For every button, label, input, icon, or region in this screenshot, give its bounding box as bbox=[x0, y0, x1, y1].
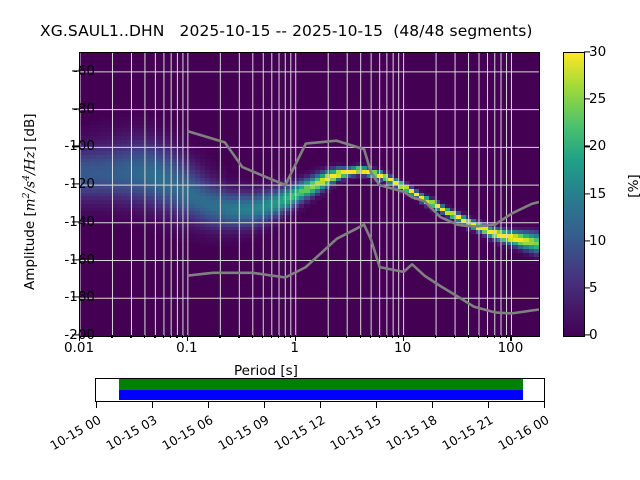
y-axis-tick-mark bbox=[72, 221, 79, 222]
x-axis-tick-mark bbox=[170, 335, 171, 338]
y-axis-tick-mark bbox=[72, 108, 79, 109]
timeline-tick-mark bbox=[320, 402, 321, 408]
timeline-tick-label: 10-15 21 bbox=[431, 412, 496, 458]
timeline-tick-label: 10-15 15 bbox=[319, 412, 384, 458]
y-axis-tick-label: -180 bbox=[64, 289, 95, 305]
timeline-tick-mark bbox=[264, 402, 265, 408]
timeline-tick-mark bbox=[152, 402, 153, 408]
x-axis-tick-mark bbox=[506, 335, 507, 338]
x-axis-tick-mark bbox=[187, 335, 188, 341]
colorbar-tick-mark bbox=[584, 287, 590, 288]
x-axis-tick-mark bbox=[262, 335, 263, 338]
timeline-tick-label: 10-15 12 bbox=[263, 412, 328, 458]
timeline-tick-mark bbox=[376, 402, 377, 408]
page-title: XG.SAUL1..DHN 2025-10-15 -- 2025-10-15 (… bbox=[40, 22, 533, 40]
x-axis-tick-mark bbox=[295, 335, 296, 341]
x-axis-tick-mark bbox=[290, 335, 291, 338]
colorbar-tick-label: 10 bbox=[589, 233, 606, 249]
timeline-tick-label: 10-15 00 bbox=[39, 412, 104, 458]
timeline-tick-label: 10-15 18 bbox=[375, 412, 440, 458]
x-axis-tick-mark bbox=[252, 335, 253, 338]
x-axis-tick-mark bbox=[144, 335, 145, 338]
x-axis-tick-label: 1 bbox=[290, 340, 299, 356]
x-axis-label: Period [s] bbox=[234, 363, 298, 379]
x-axis-tick-mark bbox=[386, 335, 387, 338]
x-axis-tick-mark bbox=[327, 335, 328, 338]
timeline-tick-label: 10-15 09 bbox=[207, 412, 272, 458]
colorbar bbox=[563, 52, 585, 337]
x-axis-tick-mark bbox=[130, 335, 131, 338]
x-axis-tick-label: 0.1 bbox=[176, 340, 197, 356]
y-axis-label: Amplitude [m2/s4/Hz] [dB] bbox=[20, 87, 38, 317]
timeline-tick-mark bbox=[432, 402, 433, 408]
colorbar-tick-label: 25 bbox=[589, 91, 606, 107]
x-axis-tick-mark bbox=[454, 335, 455, 338]
x-axis-tick-mark bbox=[494, 335, 495, 338]
x-axis-tick-mark bbox=[182, 335, 183, 338]
colorbar-tick-label: 15 bbox=[589, 186, 606, 202]
x-axis-tick-mark bbox=[163, 335, 164, 338]
noise-model-nlnm bbox=[188, 225, 539, 314]
y-axis-tick-mark bbox=[72, 297, 79, 298]
y-axis-tick-mark bbox=[72, 259, 79, 260]
ppsd-figure: XG.SAUL1..DHN 2025-10-15 -- 2025-10-15 (… bbox=[0, 0, 640, 480]
y-axis-tick-mark bbox=[72, 183, 79, 184]
timeline-tick-mark bbox=[208, 402, 209, 408]
colorbar-tick-mark bbox=[584, 334, 590, 335]
x-axis-tick-mark bbox=[435, 335, 436, 338]
x-axis-tick-label: 100 bbox=[498, 340, 524, 356]
y-axis-tick-mark bbox=[72, 146, 79, 147]
x-axis-tick-mark bbox=[278, 335, 279, 338]
colorbar-tick-label: 0 bbox=[589, 327, 598, 343]
y-axis-tick-label: -140 bbox=[64, 214, 95, 230]
peterson-noise-model-curves bbox=[80, 53, 539, 336]
timeline-tick-mark bbox=[96, 402, 97, 408]
x-axis-tick-mark bbox=[478, 335, 479, 338]
colorbar-tick-label: 5 bbox=[589, 280, 598, 296]
timeline-tick-mark bbox=[544, 402, 545, 408]
x-axis-tick-mark bbox=[79, 335, 80, 341]
x-axis-tick-mark bbox=[284, 335, 285, 338]
x-axis-tick-mark bbox=[392, 335, 393, 338]
x-axis-tick-mark bbox=[468, 335, 469, 338]
x-axis-tick-mark bbox=[403, 335, 404, 341]
y-axis-tick-mark bbox=[72, 70, 79, 71]
x-axis-tick-label: 10 bbox=[394, 340, 411, 356]
colorbar-tick-mark bbox=[584, 99, 590, 100]
colorbar-label: [%] bbox=[626, 156, 640, 216]
x-axis-tick-mark bbox=[360, 335, 361, 338]
x-axis-tick-mark bbox=[238, 335, 239, 338]
colorbar-tick-mark bbox=[584, 51, 590, 52]
x-axis-tick-mark bbox=[510, 335, 511, 341]
x-axis-tick-mark bbox=[500, 335, 501, 338]
psd-coverage-blue bbox=[119, 390, 523, 400]
x-axis-tick-mark bbox=[111, 335, 112, 338]
x-axis-tick-mark bbox=[154, 335, 155, 338]
x-axis-tick-mark bbox=[398, 335, 399, 338]
y-axis-tick-label: -160 bbox=[64, 252, 95, 268]
x-axis-tick-mark bbox=[487, 335, 488, 338]
timeline-tick-label: 10-15 03 bbox=[95, 412, 160, 458]
ppsd-plot-area[interactable] bbox=[79, 52, 540, 337]
y-axis-tick-label: -100 bbox=[64, 138, 95, 154]
y-axis-tick-label: -120 bbox=[64, 176, 95, 192]
x-axis-tick-mark bbox=[370, 335, 371, 338]
x-axis-tick-mark bbox=[379, 335, 380, 338]
colorbar-tick-mark bbox=[584, 240, 590, 241]
colorbar-tick-label: 20 bbox=[589, 138, 606, 154]
x-axis-tick-mark bbox=[346, 335, 347, 338]
x-axis-tick-mark bbox=[219, 335, 220, 338]
timeline-tick-label: 10-16 00 bbox=[487, 412, 552, 458]
x-axis-tick-label: 0.01 bbox=[64, 340, 94, 356]
noise-model-nhnm bbox=[188, 131, 539, 226]
colorbar-tick-mark bbox=[584, 146, 590, 147]
data-coverage-green bbox=[119, 379, 523, 389]
x-axis-tick-mark bbox=[176, 335, 177, 338]
x-axis-tick-mark bbox=[271, 335, 272, 338]
timeline-tick-mark bbox=[488, 402, 489, 408]
timeline-tick-label: 10-15 06 bbox=[151, 412, 216, 458]
colorbar-tick-mark bbox=[584, 193, 590, 194]
y-axis-tick-mark bbox=[72, 334, 79, 335]
colorbar-tick-label: 30 bbox=[589, 44, 606, 60]
